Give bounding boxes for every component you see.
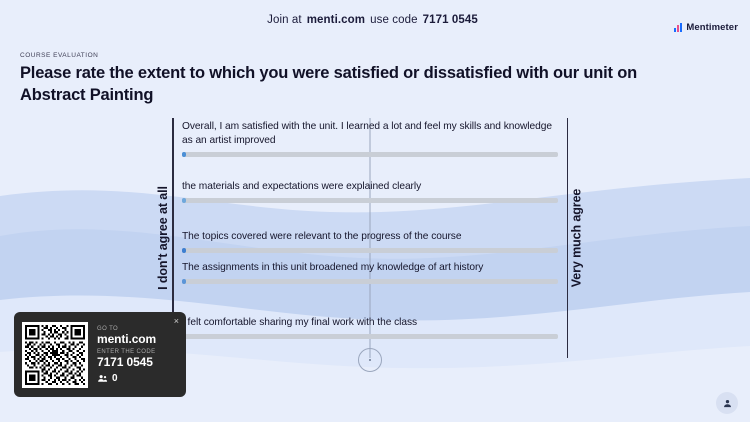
statement-list: Overall, I am satisfied with the unit. I… bbox=[182, 118, 558, 358]
join-label: Join at bbox=[267, 14, 302, 26]
qr-code-value: 7171 0545 bbox=[97, 355, 178, 369]
rating-track[interactable] bbox=[182, 334, 558, 339]
rating-track[interactable] bbox=[182, 279, 558, 284]
statement-row: the materials and expectations were expl… bbox=[182, 180, 558, 203]
close-icon[interactable]: × bbox=[174, 317, 179, 326]
statement-text: The assignments in this unit broadened m… bbox=[182, 261, 558, 275]
axis-line-right bbox=[567, 118, 569, 358]
join-details: GO TO menti.com ENTER THE CODE 7171 0545… bbox=[97, 326, 178, 384]
statement-row: The topics covered were relevant to the … bbox=[182, 230, 558, 253]
bar-chart-icon bbox=[674, 23, 682, 32]
question-header: COURSE EVALUATION Please rate the extent… bbox=[20, 52, 720, 107]
statement-text: The topics covered were relevant to the … bbox=[182, 230, 558, 244]
rating-marker[interactable] bbox=[182, 198, 186, 203]
statement-text: I felt comfortable sharing my final work… bbox=[182, 316, 558, 330]
qr-code[interactable] bbox=[22, 322, 88, 388]
participant-counter: 0 bbox=[97, 373, 178, 384]
scale-chart: I don't agree at all Very much agree Ove… bbox=[172, 118, 568, 358]
rating-marker[interactable] bbox=[182, 248, 186, 253]
axis-label-right: Very much agree bbox=[570, 189, 584, 288]
mentimeter-logo: Mentimeter bbox=[674, 22, 738, 33]
statement-row: The assignments in this unit broadened m… bbox=[182, 261, 558, 284]
axis-label-left: I don't agree at all bbox=[156, 186, 170, 290]
presenter-avatar-button[interactable] bbox=[716, 392, 738, 414]
use-code-label: use code bbox=[370, 14, 417, 26]
rating-marker[interactable] bbox=[182, 152, 186, 157]
brand-name: Mentimeter bbox=[686, 22, 738, 33]
participant-count: 0 bbox=[112, 373, 118, 384]
join-qr-card: × bbox=[14, 312, 186, 397]
rating-track[interactable] bbox=[182, 198, 558, 203]
page-title: Please rate the extent to which you were… bbox=[20, 63, 700, 107]
rating-track[interactable] bbox=[182, 248, 558, 253]
statement-row: Overall, I am satisfied with the unit. I… bbox=[182, 120, 558, 157]
person-icon bbox=[722, 398, 733, 409]
rating-track[interactable] bbox=[182, 152, 558, 157]
join-bar: Join atmenti.comuse code7171 0545 bbox=[0, 0, 750, 40]
statement-row: I felt comfortable sharing my final work… bbox=[182, 316, 558, 339]
join-code: 7171 0545 bbox=[423, 14, 478, 26]
rating-marker[interactable] bbox=[182, 279, 186, 284]
qr-domain: menti.com bbox=[97, 332, 178, 346]
mentimeter-presentation: Join atmenti.comuse code7171 0545 Mentim… bbox=[0, 0, 750, 422]
people-icon bbox=[97, 373, 108, 384]
join-domain[interactable]: menti.com bbox=[307, 14, 365, 26]
statement-text: Overall, I am satisfied with the unit. I… bbox=[182, 120, 558, 148]
eyebrow-label: COURSE EVALUATION bbox=[20, 52, 720, 59]
join-instructions: Join atmenti.comuse code7171 0545 bbox=[267, 14, 483, 26]
statement-text: the materials and expectations were expl… bbox=[182, 180, 558, 194]
